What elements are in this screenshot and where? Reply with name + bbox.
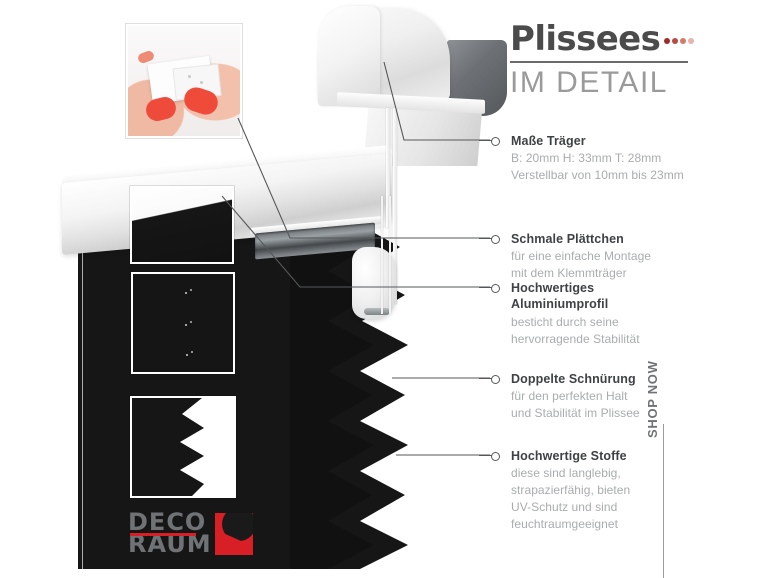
callout-masse-traeger: Maße Träger B: 20mm H: 33mm T: 28mm Vers… — [511, 133, 726, 184]
callout-body-line: für den perfekten Halt — [511, 388, 726, 405]
leader-bullet-icon — [491, 235, 500, 244]
callout-schmale-plaettchen: Schmale Plättchen für eine einfache Mont… — [511, 231, 726, 282]
callout-body-line: diese sind langlebig, — [511, 465, 726, 482]
leader-bullet-icon — [491, 452, 500, 461]
leader-bullet-icon — [491, 137, 500, 146]
title-divider — [510, 61, 688, 63]
callout-body-line: hervorragende Stabilität — [511, 331, 726, 348]
callout-heading: Hochwertige Stoffe — [511, 448, 726, 464]
callout-body-line: feuchtraumgeeignet — [511, 516, 726, 533]
shop-now-divider — [663, 424, 664, 578]
leader-bullet-icon — [491, 375, 500, 384]
callout-body: für den perfekten Halt und Stabilität im… — [511, 388, 726, 422]
info-column: Plissees IM DETAIL Maße Träger B: 20mm H… — [0, 0, 770, 578]
page-subtitle: IM DETAIL — [510, 66, 710, 99]
callout-body-line: für eine einfache Montage — [511, 248, 726, 265]
callout-heading: Hochwertiges Aluminiumprofil — [511, 280, 641, 313]
callout-body: für eine einfache Montage mit dem Klemmt… — [511, 248, 726, 282]
infographic-canvas: DECO RAUM Plissees IM — [0, 0, 770, 578]
callout-body-line: und Stabilität im Plissee — [511, 405, 726, 422]
callout-heading: Maße Träger — [511, 133, 726, 149]
callout-aluminiumprofil: Hochwertiges Aluminiumprofil besticht du… — [511, 280, 726, 348]
callout-body-line: UV-Schutz und sind — [511, 499, 726, 516]
callout-doppelte-schnuerung: Doppelte Schnürung für den perfekten Hal… — [511, 371, 726, 422]
callout-body: B: 20mm H: 33mm T: 28mm Verstellbar von … — [511, 150, 726, 184]
callout-body-line: Verstellbar von 10mm bis 23mm — [511, 167, 726, 184]
callout-body-line: strapazierfähig, bieten — [511, 482, 726, 499]
callout-body-line: besticht durch seine — [511, 314, 726, 331]
callout-body: diese sind langlebig, strapazierfähig, b… — [511, 465, 726, 533]
title-block: Plissees IM DETAIL — [510, 22, 710, 99]
callout-body: besticht durch seine hervorragende Stabi… — [511, 314, 726, 348]
callout-heading: Doppelte Schnürung — [511, 371, 726, 387]
leader-bullet-icon — [491, 284, 500, 293]
page-title: Plissees — [510, 22, 660, 56]
title-dots-decoration — [662, 31, 694, 49]
callout-heading: Schmale Plättchen — [511, 231, 726, 247]
callout-body-line: B: 20mm H: 33mm T: 28mm — [511, 150, 726, 167]
shop-now-button[interactable]: SHOP NOW — [645, 318, 660, 438]
callout-hochwertige-stoffe: Hochwertige Stoffe diese sind langlebig,… — [511, 448, 726, 533]
